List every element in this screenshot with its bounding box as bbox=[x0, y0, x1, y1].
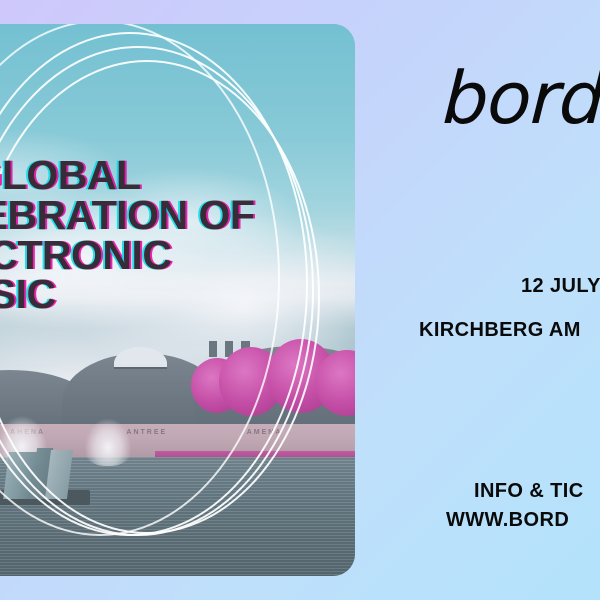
brand-logo: borde bbox=[441, 62, 600, 134]
headline-line-1: A GLOBAL bbox=[0, 156, 274, 196]
event-poster: AHENA ANTREE AMENA A GLOBAL CELEBRATION … bbox=[0, 0, 600, 600]
website-url[interactable]: WWW.BORD bbox=[446, 509, 569, 532]
event-venue: KIRCHBERG AM bbox=[419, 319, 581, 342]
photo-card: AHENA ANTREE AMENA A GLOBAL CELEBRATION … bbox=[0, 24, 355, 576]
poster-headline: A GLOBAL CELEBRATION OF ELECTRONIC MUSIC bbox=[0, 156, 274, 315]
tickets-label[interactable]: INFO & TIC bbox=[474, 480, 584, 503]
event-date: 12 JULY bbox=[521, 275, 600, 298]
headline-line-2: CELEBRATION OF bbox=[0, 196, 274, 236]
headline-line-3: ELECTRONIC bbox=[0, 236, 274, 276]
headline-line-4: MUSIC bbox=[0, 275, 274, 315]
